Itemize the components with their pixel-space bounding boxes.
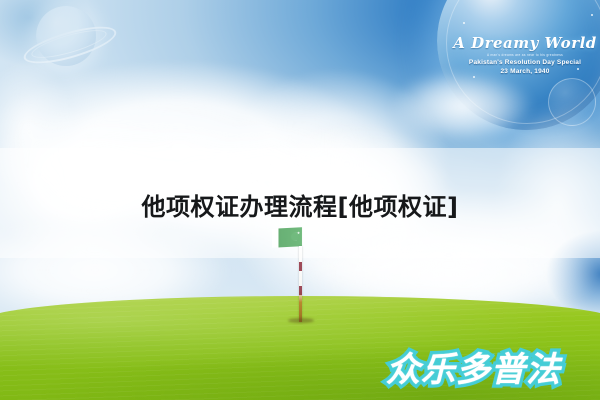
dreamy-title: A Dreamy World <box>452 36 598 52</box>
pole-base-shadow <box>288 318 314 323</box>
crescent-cutout <box>291 232 299 240</box>
page-title: 他项权证办理流程[他项权证] <box>0 190 600 224</box>
pakistan-flag-icon <box>272 227 302 248</box>
pole-mark-lower <box>299 286 302 295</box>
site-watermark: 众乐多普法 <box>386 350 561 390</box>
hero-banner: A Dreamy World A man's dreams are as nea… <box>0 0 600 400</box>
pole-mark-upper <box>299 262 302 271</box>
flag-pole <box>299 246 302 322</box>
